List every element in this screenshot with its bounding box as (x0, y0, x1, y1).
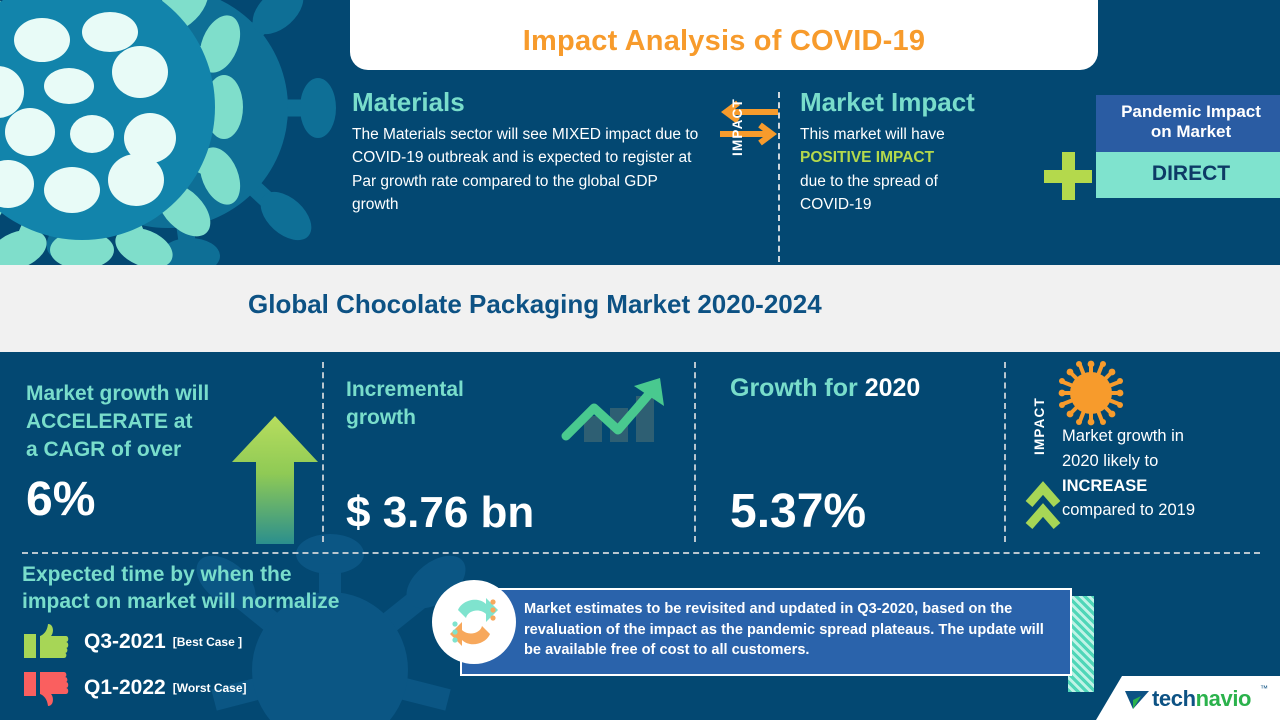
orange-virus-icon (1058, 360, 1124, 426)
incremental-growth-value: $ 3.76 bn (346, 488, 534, 538)
pandemic-header-line1: Pandemic Impact (1121, 102, 1261, 121)
cagr-label-line3: a CAGR of over (26, 438, 181, 461)
growth-2020-year: 2020 (865, 374, 921, 402)
normalize-heading-line1: Expected time by when the (22, 563, 292, 586)
logo-part1: tech (1152, 686, 1196, 711)
market-impact-line2: due to the spread of (800, 173, 938, 190)
growth-2020-label: Growth for 2020 (730, 374, 990, 403)
impact-label-top: IMPACT (730, 98, 745, 156)
report-title-band: Global Chocolate Packaging Market 2020-2… (0, 265, 1280, 352)
virus-graphic (0, 0, 360, 265)
thumbs-down-icon (22, 668, 70, 708)
materials-heading: Materials (352, 88, 702, 117)
normalize-row-worst: Q1-2022 [Worst Case] (22, 668, 422, 708)
metric-separator-2 (694, 362, 696, 542)
up-arrow-icon (230, 414, 320, 544)
normalize-case-best: [Best Case ] (173, 635, 242, 649)
cagr-label-line1: Market growth will (26, 382, 209, 405)
technavio-logo: technavio ™ (1096, 676, 1280, 720)
metric-incremental-growth: Incremental growth $ 3.76 bn (346, 376, 576, 432)
metric-cagr: Market growth will ACCELERATE at a CAGR … (26, 380, 236, 527)
market-impact-line1: This market will have (800, 126, 945, 143)
pandemic-impact-box: Pandemic Impact on Market DIRECT (1096, 95, 1280, 198)
normalize-row-best: Q3-2021 [Best Case ] (22, 622, 422, 662)
incremental-label-line1: Incremental (346, 378, 464, 401)
materials-body: The Materials sector will see MIXED impa… (352, 123, 702, 217)
metric-separator-1 (322, 362, 324, 542)
bottom-separator (22, 552, 1260, 554)
market-impact-highlight: POSITIVE IMPACT (800, 149, 934, 166)
cagr-value: 6% (26, 472, 236, 527)
metric-growth-2020: Growth for 2020 5.37% (730, 374, 990, 403)
growth-chart-icon (560, 374, 670, 446)
virus-front-icon (0, 0, 272, 265)
thumbs-up-icon (22, 622, 70, 662)
metric-separator-3 (1004, 362, 1006, 542)
page-title: Impact Analysis of COVID-19 (523, 25, 925, 70)
cagr-label: Market growth will ACCELERATE at a CAGR … (26, 380, 236, 464)
logo-trademark: ™ (1260, 684, 1268, 693)
incremental-growth-label: Incremental growth (346, 376, 576, 432)
logo-corner-cut (1096, 676, 1122, 720)
double-chevron-up-icon (1025, 478, 1061, 536)
normalize-quarter-worst: Q1-2022 (84, 676, 166, 700)
pandemic-header-line2: on Market (1151, 122, 1231, 141)
cagr-label-line2: ACCELERATE at (26, 410, 192, 433)
impact-divider-top: IMPACT (712, 98, 786, 258)
normalize-heading-line2: impact on market will normalize (22, 590, 339, 613)
pandemic-impact-header: Pandemic Impact on Market (1096, 95, 1280, 152)
refresh-cycle-icon (432, 580, 516, 664)
infographic-root: Impact Analysis of COVID-19 Materials Th… (0, 0, 1280, 720)
market-impact-heading: Market Impact (800, 88, 1100, 117)
market-impact-line3: COVID-19 (800, 196, 872, 213)
refresh-icon-circle (432, 580, 516, 664)
plus-icon (1044, 152, 1092, 200)
normalize-heading: Expected time by when the impact on mark… (22, 562, 422, 616)
header-title-card: Impact Analysis of COVID-19 (350, 0, 1098, 70)
report-title: Global Chocolate Packaging Market 2020-2… (248, 289, 822, 320)
normalize-quarter-best: Q3-2021 (84, 630, 166, 654)
note-block: Market estimates to be revisited and upd… (460, 588, 1072, 676)
bidirectional-arrows-icon (716, 100, 782, 150)
sector-materials: Materials The Materials sector will see … (352, 88, 702, 217)
growth-2020-prefix: Growth for (730, 374, 865, 402)
note-text: Market estimates to be revisited and upd… (524, 599, 1054, 661)
note-box: Market estimates to be revisited and upd… (460, 588, 1072, 676)
normalize-section: Expected time by when the impact on mark… (22, 562, 422, 708)
logo-wordmark: technavio (1152, 686, 1251, 712)
logo-part2: navio (1196, 686, 1251, 711)
incremental-label-line2: growth (346, 406, 416, 429)
normalize-case-worst: [Worst Case] (173, 681, 247, 695)
divider-dashed-top (778, 92, 780, 262)
growth-2020-value: 5.37% (730, 484, 866, 539)
paper-plane-icon (1124, 689, 1150, 711)
pandemic-impact-value: DIRECT (1096, 152, 1280, 198)
